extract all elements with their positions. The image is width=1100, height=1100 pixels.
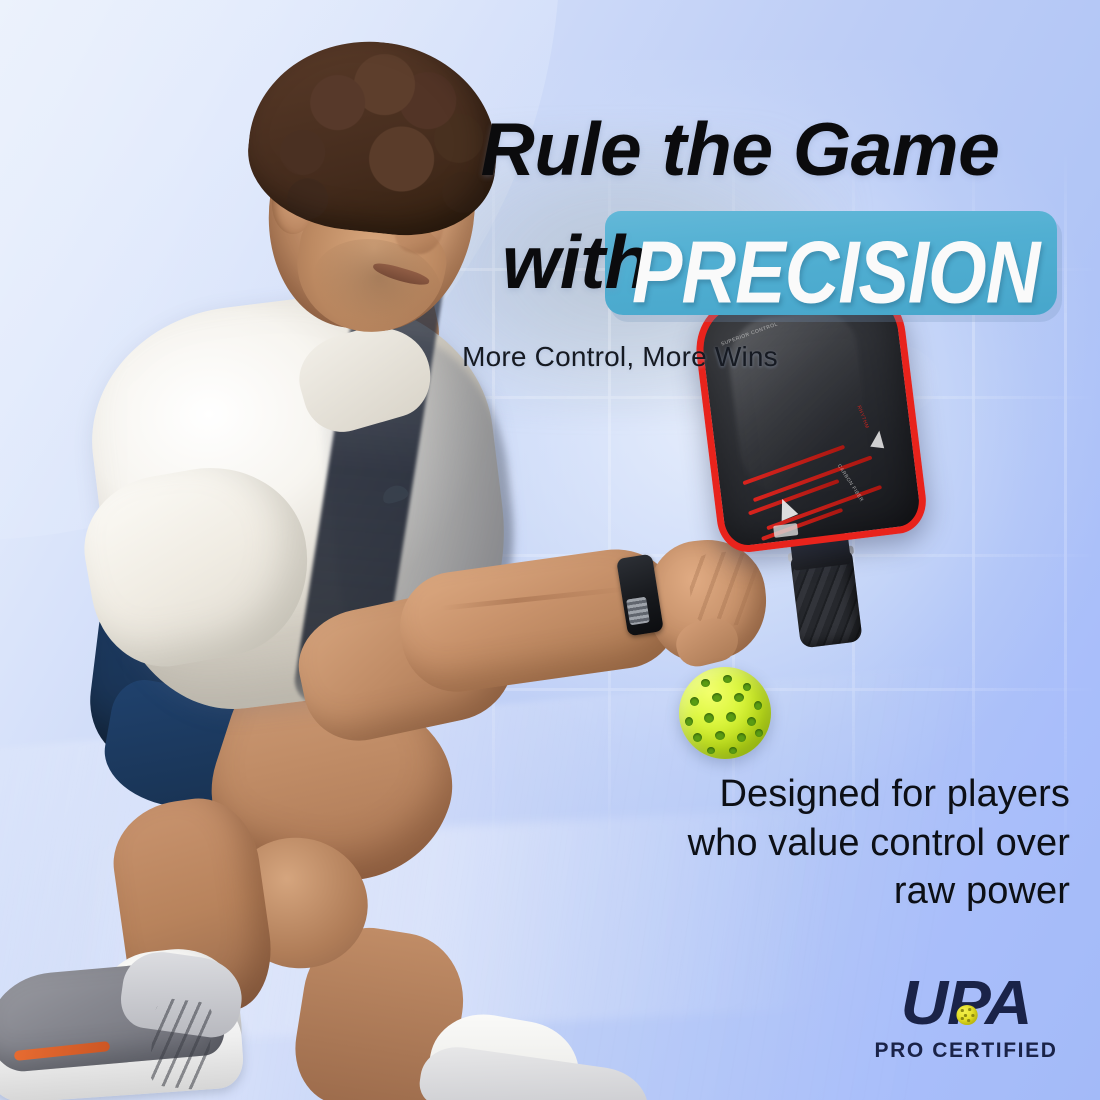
precision-word: PRECISION bbox=[632, 221, 1039, 324]
upa-wordmark-text: UPA bbox=[901, 969, 1032, 1038]
tagline-line-3: raw power bbox=[560, 867, 1070, 916]
upa-certification-text: PRO CERTIFIED bbox=[862, 1039, 1070, 1063]
pickleball-paddle: SUPERIOR CONTROL RHYTHM CARBON FIBER bbox=[683, 276, 968, 604]
headline-line-2: with PRECISION bbox=[400, 205, 1080, 323]
tagline: Designed for players who value control o… bbox=[560, 770, 1070, 916]
paddle-secondary-mark-icon bbox=[870, 430, 886, 449]
pickleball-dot-icon bbox=[956, 1005, 977, 1025]
paddle-spec-badge bbox=[773, 523, 798, 538]
headline-line-1: Rule the Game bbox=[415, 110, 1065, 188]
tagline-line-2: who value control over bbox=[560, 819, 1070, 868]
athlete-shoe-laces bbox=[148, 997, 215, 1091]
subtitle: More Control, More Wins bbox=[420, 341, 820, 373]
headline-with-word: with bbox=[400, 219, 650, 305]
tagline-line-1: Designed for players bbox=[560, 770, 1070, 819]
wristband-buckle-icon bbox=[626, 597, 650, 626]
pickleball-ball bbox=[679, 667, 771, 759]
upa-certification-logo: UPA PRO CERTIFIED bbox=[862, 972, 1070, 1072]
pickleball-ad-creative: SUPERIOR CONTROL RHYTHM CARBON FIBER Rul… bbox=[0, 0, 1100, 1100]
upa-wordmark: UPA bbox=[856, 972, 1076, 1036]
